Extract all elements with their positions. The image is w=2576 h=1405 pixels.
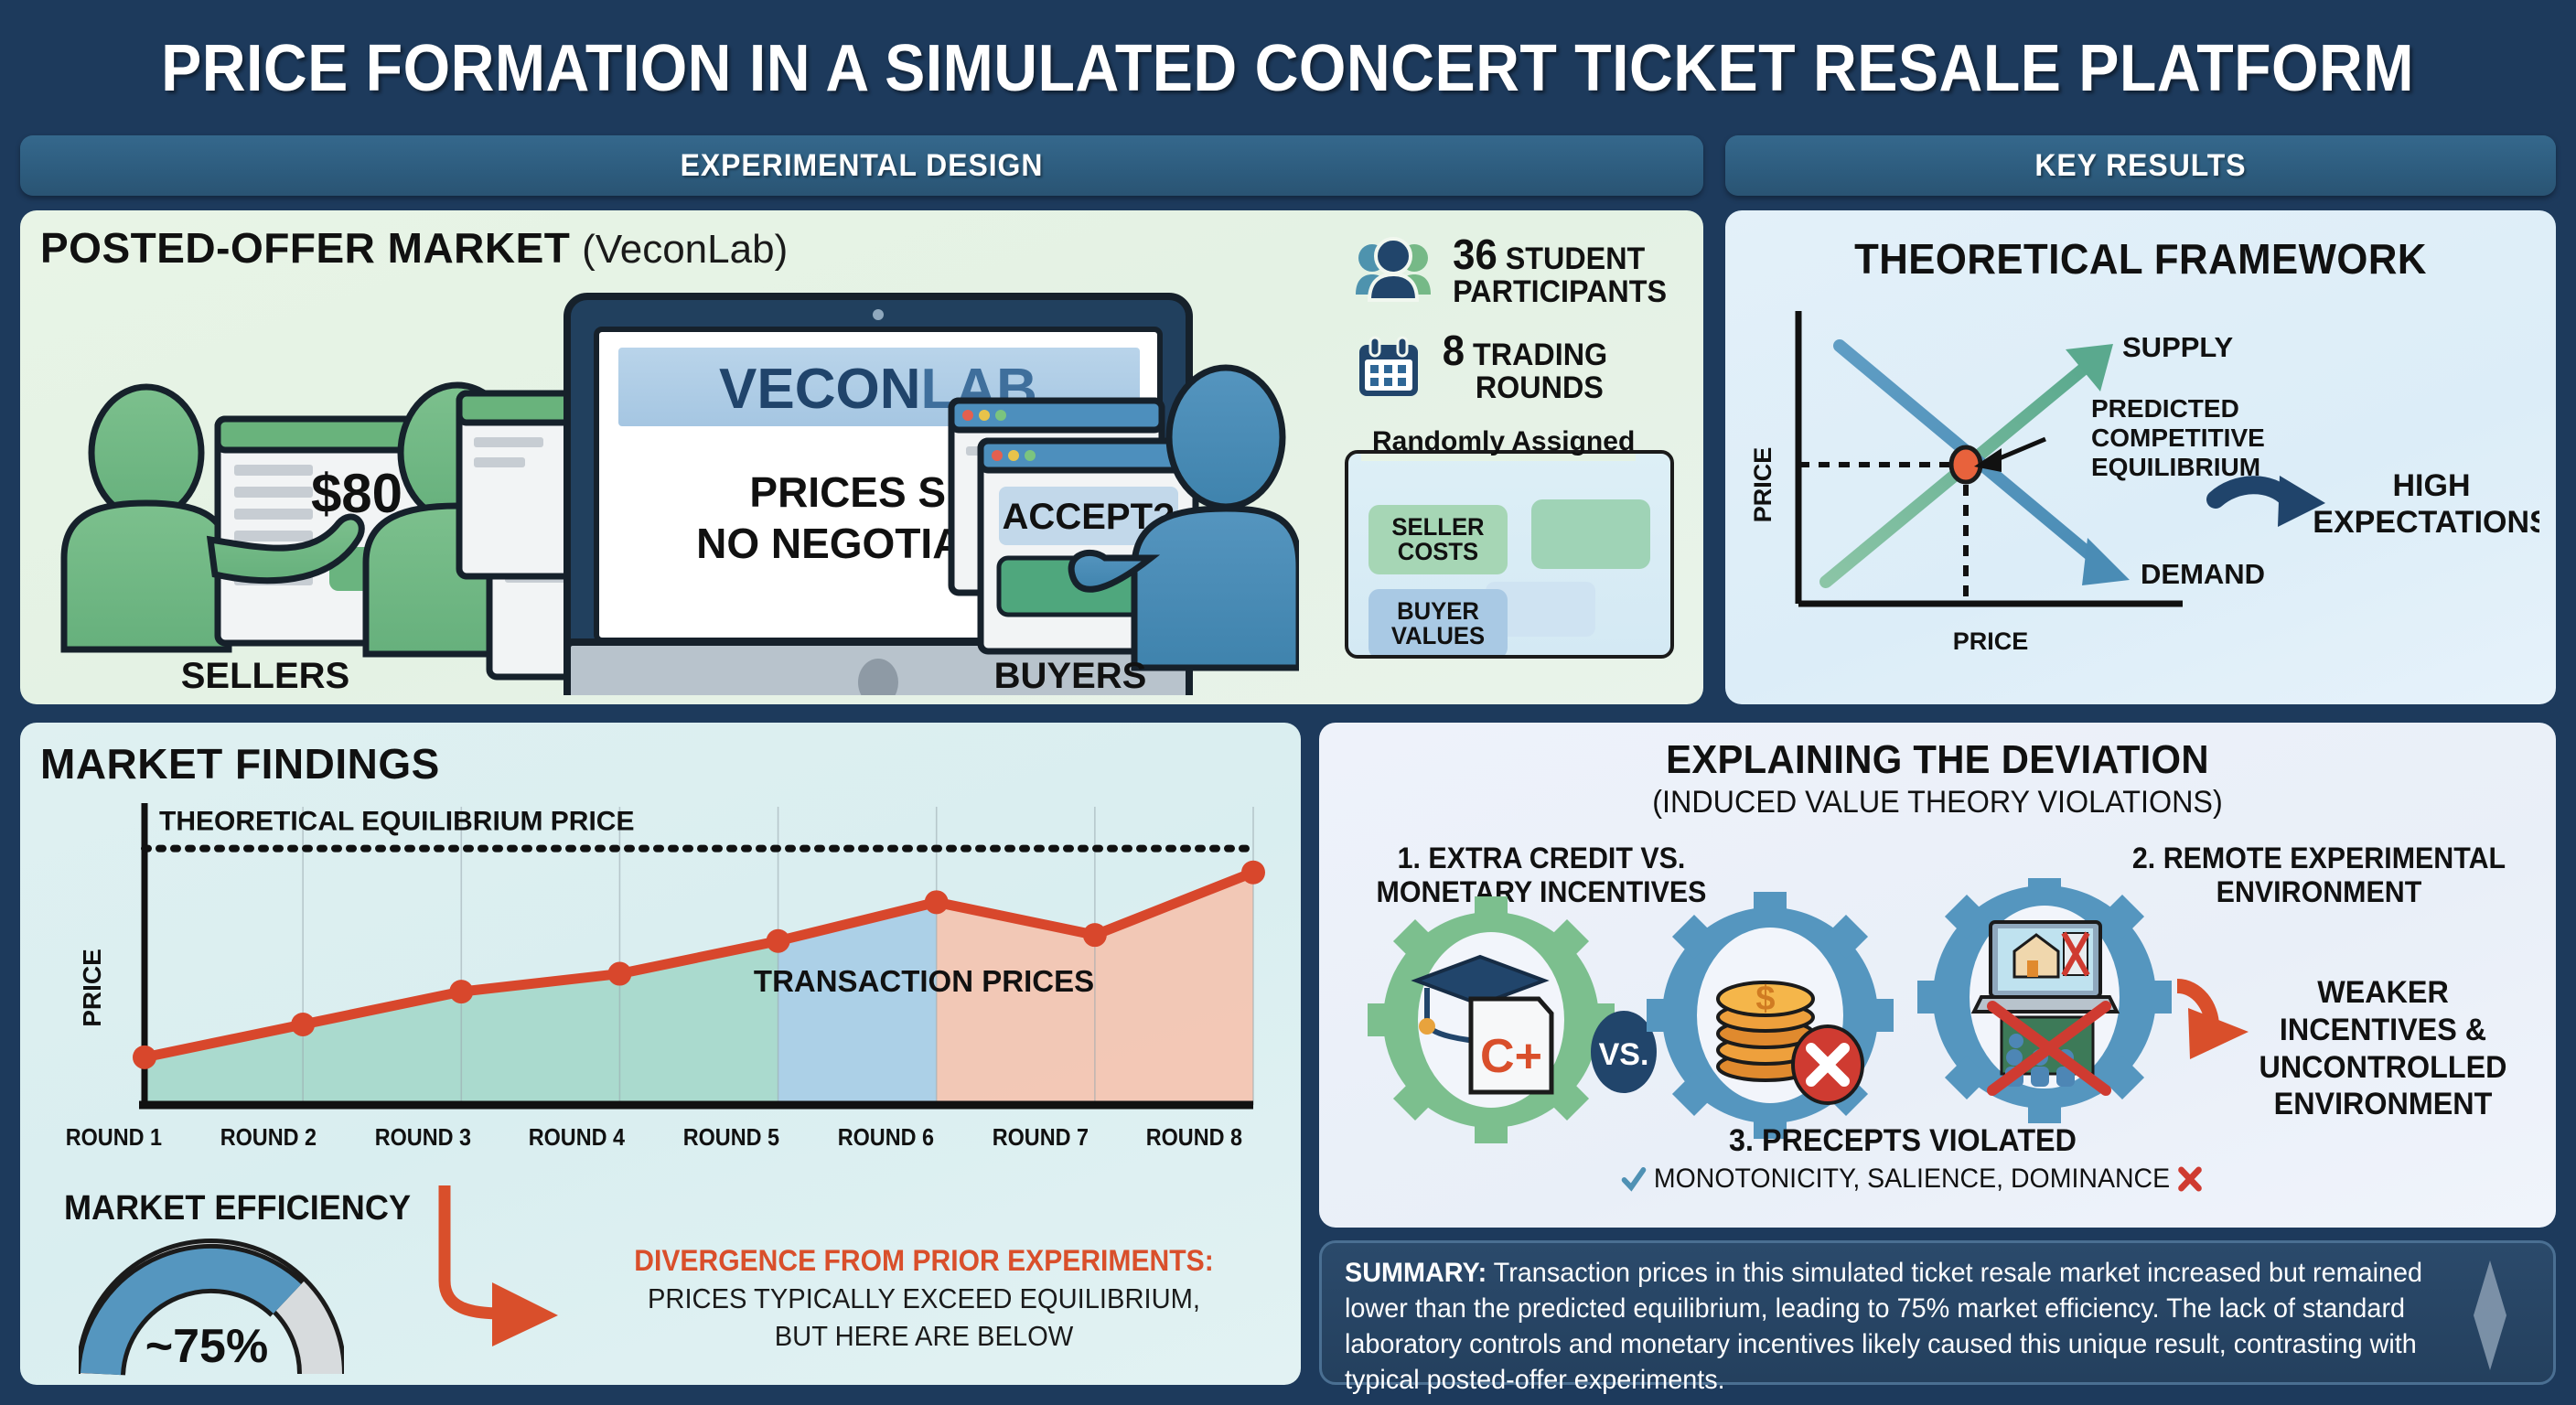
chart-x-label-6: ROUND 6 [816, 1123, 955, 1152]
summary-label: SUMMARY: [1345, 1258, 1487, 1288]
section-header-experimental-design-label: EXPERIMENTAL DESIGN [681, 148, 1044, 184]
svg-text:COMPETITIVE: COMPETITIVE [2091, 424, 2265, 452]
posted-offer-market-heading-light: (VeconLab) [582, 227, 788, 272]
red-x-badge-money [1793, 1026, 1862, 1103]
divergence-note: DIVERGENCE FROM PRIOR EXPERIMENTS: PRICE… [585, 1244, 1262, 1353]
stat-rounds-value: 8 [1443, 327, 1465, 374]
stat-rounds-label2: ROUNDS [1476, 370, 1604, 405]
chart-data-point-1 [133, 1046, 156, 1069]
high-expectations-arrow [2216, 476, 2325, 527]
transaction-prices-chart: THEORETICAL EQUILIBRIUM PRICEPRICETRANSA… [37, 796, 1272, 1125]
transaction-prices-plot-label: TRANSACTION PRICES [754, 964, 1094, 998]
chip-seller-costs-label: SELLERCOSTS [1391, 515, 1484, 564]
svg-text:PREDICTED: PREDICTED [2091, 394, 2239, 423]
versus-label: VS. [1599, 1037, 1649, 1072]
chart-data-point-2 [291, 1013, 315, 1036]
theory-x-axis-label: PRICE [1953, 627, 2029, 655]
stat-participants-text: 36 STUDENT PARTICIPANTS [1453, 233, 1667, 308]
grade-label: C+ [1480, 1030, 1542, 1083]
svg-text:$: $ [1755, 980, 1775, 1018]
high-expectations-line2: EXPECTATIONS [2313, 505, 2539, 540]
chart-x-label-4: ROUND 4 [508, 1123, 647, 1152]
chart-x-label-5: ROUND 5 [661, 1123, 800, 1152]
gear-extra-credit: C+ [1368, 896, 1615, 1143]
chart-data-point-5 [767, 929, 790, 953]
laptop-icon [1974, 922, 2117, 1012]
supply-demand-chart: SUPPLY DEMAND PREDICTED COMPETITIVE EQUI… [1744, 293, 2539, 677]
explaining-deviation-subtitle: (INDUCED VALUE THEORY VIOLATIONS) [1350, 785, 2525, 820]
calendar-icon [1354, 332, 1423, 402]
posted-offer-market-heading-bold: POSTED-OFFER MARKET [40, 224, 570, 272]
randomly-assigned-label: Randomly Assigned [1365, 426, 1642, 457]
supply-label: SUPPLY [2122, 331, 2234, 363]
stat-trading-rounds: 8 TRADING ROUNDS [1354, 329, 1612, 404]
randomly-assigned-frame: SELLERCOSTS BUYERVALUES [1345, 450, 1674, 659]
market-illustration: $80 $100 [37, 284, 1299, 695]
divergence-line1: PRICES TYPICALLY EXCEED EQUILIBRIUM, [606, 1282, 1242, 1315]
chart-data-point-7 [1083, 923, 1107, 947]
chart-data-point-8 [1241, 861, 1265, 885]
precepts-row: MONOTONICITY, SALIENCE, DOMINANCE [1521, 1164, 2303, 1195]
seller-figure-1 [64, 387, 229, 649]
equilibrium-point [1951, 447, 1980, 482]
theoretical-framework-title: THEORETICAL FRAMEWORK [1746, 234, 2536, 284]
stat-rounds-label1: TRADING [1473, 338, 1607, 372]
explain-item-3-heading: 3. PRECEPTS VIOLATED [1572, 1123, 2233, 1159]
randomly-assigned-group: SELLERCOSTS BUYERVALUES Randomly Assigne… [1345, 430, 1674, 659]
chart-x-label-2: ROUND 2 [199, 1123, 338, 1152]
classroom-crossed-icon [1992, 1006, 2106, 1090]
divergence-line2: BUT HERE ARE BELOW [606, 1319, 1242, 1353]
cross-icon [2177, 1165, 2204, 1193]
theory-y-axis-label: PRICE [1749, 447, 1776, 523]
check-icon [1621, 1165, 1648, 1193]
chart-data-point-6 [925, 890, 949, 914]
theoretical-equilibrium-label: THEORETICAL EQUILIBRIUM PRICE [159, 807, 634, 837]
market-efficiency-value: ~75% [79, 1319, 335, 1374]
chip-buyer-values: BUYERVALUES [1368, 589, 1508, 659]
stat-participants-label2: PARTICIPANTS [1453, 274, 1667, 309]
summary-body: Transaction prices in this simulated tic… [1345, 1258, 2422, 1395]
stat-participants-value: 36 [1453, 231, 1497, 278]
explain-gears-illustration: C+ VS. [1363, 878, 2278, 1153]
stat-participants-label1: STUDENT [1506, 241, 1646, 276]
infographic-page: PRICE FORMATION IN A SIMULATED CONCERT T… [0, 0, 2576, 1405]
chart-x-label-1: ROUND 1 [44, 1123, 183, 1152]
precepts-label: MONOTONICITY, SALIENCE, DOMINANCE [1654, 1164, 2170, 1195]
market-findings-title: MARKET FINDINGS [40, 739, 440, 788]
assigned-shape-green [1531, 499, 1650, 569]
chip-seller-costs: SELLERCOSTS [1368, 505, 1508, 574]
buyers-label: BUYERS [994, 656, 1147, 695]
page-title: PRICE FORMATION IN A SIMULATED CONCERT T… [162, 31, 2415, 106]
demand-label: DEMAND [2141, 558, 2265, 590]
chip-buyer-values-label: BUYERVALUES [1391, 599, 1485, 649]
weaker-incentives-outcome: WEAKER INCENTIVES & UNCONTROLLED ENVIRON… [2231, 974, 2536, 1123]
gear-remote-environment [1917, 878, 2172, 1123]
section-header-experimental-design: EXPERIMENTAL DESIGN [20, 135, 1703, 196]
posted-offer-market-heading: POSTED-OFFER MARKET (VeconLab) [40, 223, 788, 273]
chart-x-axis-labels: ROUND 1ROUND 2ROUND 3ROUND 4ROUND 5ROUND… [37, 1123, 1272, 1152]
stat-student-participants: 36 STUDENT PARTICIPANTS [1354, 233, 1672, 308]
page-title-bar: PRICE FORMATION IN A SIMULATED CONCERT T… [0, 0, 2576, 137]
sellers-label: SELLERS [181, 656, 349, 695]
stat-rounds-text: 8 TRADING ROUNDS [1443, 329, 1607, 404]
chart-x-label-7: ROUND 7 [971, 1123, 1110, 1152]
svg-text:EQUILIBRIUM: EQUILIBRIUM [2091, 453, 2260, 481]
svg-text:$80: $80 [311, 463, 402, 524]
explaining-deviation-title: EXPLAINING THE DEVIATION [1350, 737, 2525, 783]
gear-monetary-incentives: $ [1647, 892, 1894, 1139]
chart-x-label-3: ROUND 3 [353, 1123, 492, 1152]
summary-text: SUMMARY: Transaction prices in this simu… [1345, 1255, 2477, 1398]
chart-data-point-4 [607, 962, 631, 986]
section-header-key-results: KEY RESULTS [1725, 135, 2556, 196]
section-header-key-results-label: KEY RESULTS [2034, 148, 2246, 184]
high-expectations-line1: HIGH [2393, 468, 2471, 503]
chart-y-axis-label: PRICE [78, 949, 106, 1027]
chart-data-point-3 [449, 980, 473, 1003]
divergence-headline: DIVERGENCE FROM PRIOR EXPERIMENTS: [606, 1244, 1242, 1278]
people-icon [1354, 236, 1433, 306]
chart-x-label-8: ROUND 8 [1125, 1123, 1264, 1152]
market-efficiency-title: MARKET EFFICIENCY [64, 1189, 411, 1228]
